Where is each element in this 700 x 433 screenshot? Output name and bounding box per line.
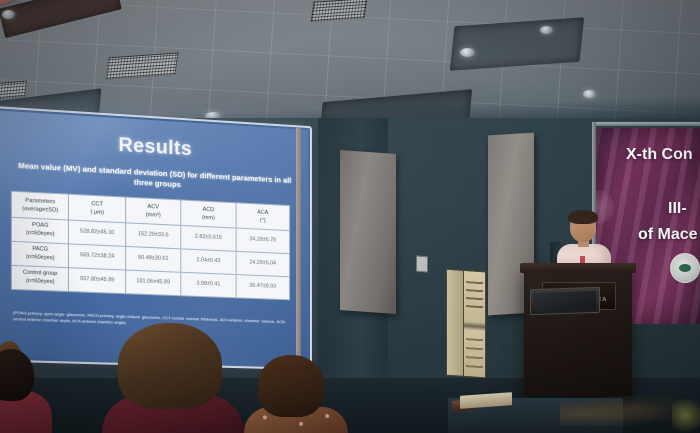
ceiling-light-icon bbox=[583, 90, 596, 98]
presenter-laptop[interactable] bbox=[530, 287, 600, 315]
cell-control-acv: 181.06±45.89 bbox=[125, 270, 181, 296]
audience-member bbox=[108, 323, 238, 433]
banner-line-1: X-th Con bbox=[626, 146, 693, 164]
decorative-plant bbox=[672, 398, 700, 433]
header-line-1: ACD bbox=[203, 207, 215, 214]
cell-poag-acv: 152.29±33.6 bbox=[125, 223, 181, 249]
audience-head bbox=[258, 355, 324, 417]
laptop-screen bbox=[534, 291, 596, 311]
header-line-1: CCT bbox=[91, 201, 103, 208]
cell-poag-aca: 34.28±6.78 bbox=[236, 228, 290, 254]
slide-subtitle: Mean value (MV) and standard deviation (… bbox=[11, 160, 298, 196]
header-line-2: ( μm) bbox=[91, 209, 104, 216]
audience-head bbox=[118, 323, 222, 409]
header-line-2: (mm³) bbox=[146, 212, 161, 219]
header-line-2: (°) bbox=[260, 218, 266, 224]
cell-control-aca: 36.47±8.93 bbox=[236, 275, 290, 300]
podium-top-surface bbox=[520, 263, 636, 273]
table-cables bbox=[560, 396, 690, 426]
row-label-pacg: PACG (n=60eyes) bbox=[11, 241, 68, 267]
header-line-2: (average±SD) bbox=[22, 206, 58, 214]
screen-support-post bbox=[296, 128, 301, 366]
row-label-line-1: POAG bbox=[32, 222, 48, 229]
header-line-1: ACV bbox=[148, 204, 160, 211]
table-header-cct: CCT ( μm) bbox=[69, 194, 126, 223]
wall-control-panel[interactable] bbox=[446, 269, 484, 377]
audience-member bbox=[0, 338, 58, 433]
row-label-line-2: (n=60eyes) bbox=[26, 254, 55, 261]
table-header-acd: ACD (mm) bbox=[181, 200, 236, 228]
banner-line-3: of Mace bbox=[638, 226, 698, 244]
ceiling-light-icon bbox=[2, 10, 15, 19]
ceiling-vent-icon bbox=[0, 80, 27, 99]
audience-head bbox=[0, 349, 34, 401]
row-label-line-2: (n=60eyes) bbox=[26, 230, 55, 238]
row-label-control: Control group (n=60eyes) bbox=[11, 265, 68, 291]
banner-rod bbox=[592, 122, 700, 126]
table-header-parameters: Parameters (average±SD) bbox=[11, 191, 68, 220]
cell-poag-acd: 2.82±0.615 bbox=[181, 226, 236, 252]
wall-acoustic-panel bbox=[340, 150, 396, 314]
conference-room-photo: Results Mean value (MV) and standard dev… bbox=[0, 0, 700, 433]
ceiling-light-icon bbox=[460, 48, 475, 57]
cell-pacg-acd: 2.04±0.43 bbox=[181, 249, 236, 275]
audience-member bbox=[250, 355, 340, 433]
banner-emblem-icon bbox=[670, 253, 700, 283]
table-header-acv: ACV (mm³) bbox=[125, 197, 181, 226]
row-label-poag: POAG (n=60eyes) bbox=[11, 218, 68, 244]
speaker-hair bbox=[568, 210, 598, 224]
cell-control-acd: 3.08±0.41 bbox=[181, 272, 236, 297]
control-panel-breakers[interactable] bbox=[463, 270, 486, 379]
banner-line-2: III- bbox=[668, 200, 687, 218]
row-label-line-2: (n=60eyes) bbox=[26, 278, 55, 285]
header-line-1: Parameters bbox=[25, 198, 55, 206]
row-label-line-1: PACG bbox=[32, 246, 48, 253]
ceiling-dark-panel bbox=[450, 17, 584, 71]
table-header-aca: ACA (°) bbox=[236, 203, 290, 231]
cell-pacg-cct: 569.72±38.24 bbox=[69, 244, 126, 270]
cell-control-cct: 557.80±45.99 bbox=[69, 268, 126, 294]
results-table: Parameters (average±SD) CCT ( μm) ACV (m… bbox=[11, 191, 290, 301]
header-line-2: (mm) bbox=[202, 215, 215, 222]
ceiling-light-icon bbox=[540, 26, 553, 34]
row-label-line-1: Control group bbox=[23, 269, 58, 277]
cell-pacg-aca: 24.29±5.04 bbox=[236, 251, 290, 276]
light-switch[interactable] bbox=[416, 255, 428, 272]
cell-pacg-acv: 90.48±30.61 bbox=[125, 246, 181, 272]
cell-poag-cct: 528.82±45.10 bbox=[69, 220, 126, 246]
header-line-1: ACA bbox=[257, 209, 268, 216]
